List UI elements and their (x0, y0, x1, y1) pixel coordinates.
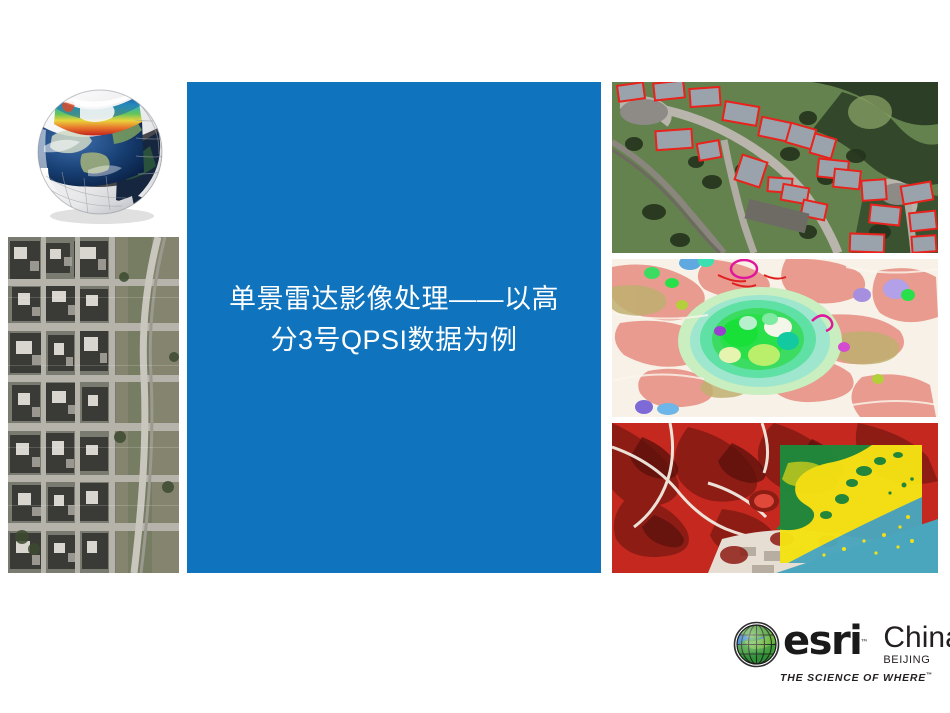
esri-wordmark-text: esri (783, 618, 861, 664)
urban-satellite-imagery (8, 237, 179, 573)
logo-tagline-text: THE SCIENCE OF WHERE (780, 672, 926, 684)
logo-tagline: THE SCIENCE OF WHERE™ (780, 672, 938, 684)
esri-globe-icon (733, 621, 780, 668)
sliced-layered-globe-image (22, 76, 178, 228)
logo-region-name: China (883, 622, 950, 653)
false-colour-infrared-scene-image (612, 423, 938, 573)
title-panel: 单景雷达影像处理——以高 分3号QPSI数据为例 (187, 82, 601, 573)
esri-trademark-mark: ™ (860, 623, 868, 663)
presentation-slide: 单景雷达影像处理——以高 分3号QPSI数据为例 (0, 0, 950, 713)
logo-region-city: BEIJING (883, 654, 950, 666)
esri-china-logo: esri ™ China BEIJING THE SCIENCE OF WHER… (733, 621, 938, 683)
suburb-building-footprints-image (612, 82, 938, 253)
logo-region: China BEIJING (883, 621, 950, 666)
logo-tagline-trademark: ™ (926, 673, 933, 679)
page-title: 单景雷达影像处理——以高 分3号QPSI数据为例 (215, 279, 573, 360)
esri-wordmark: esri ™ (783, 621, 861, 661)
land-cover-classification-map-image (612, 259, 938, 417)
